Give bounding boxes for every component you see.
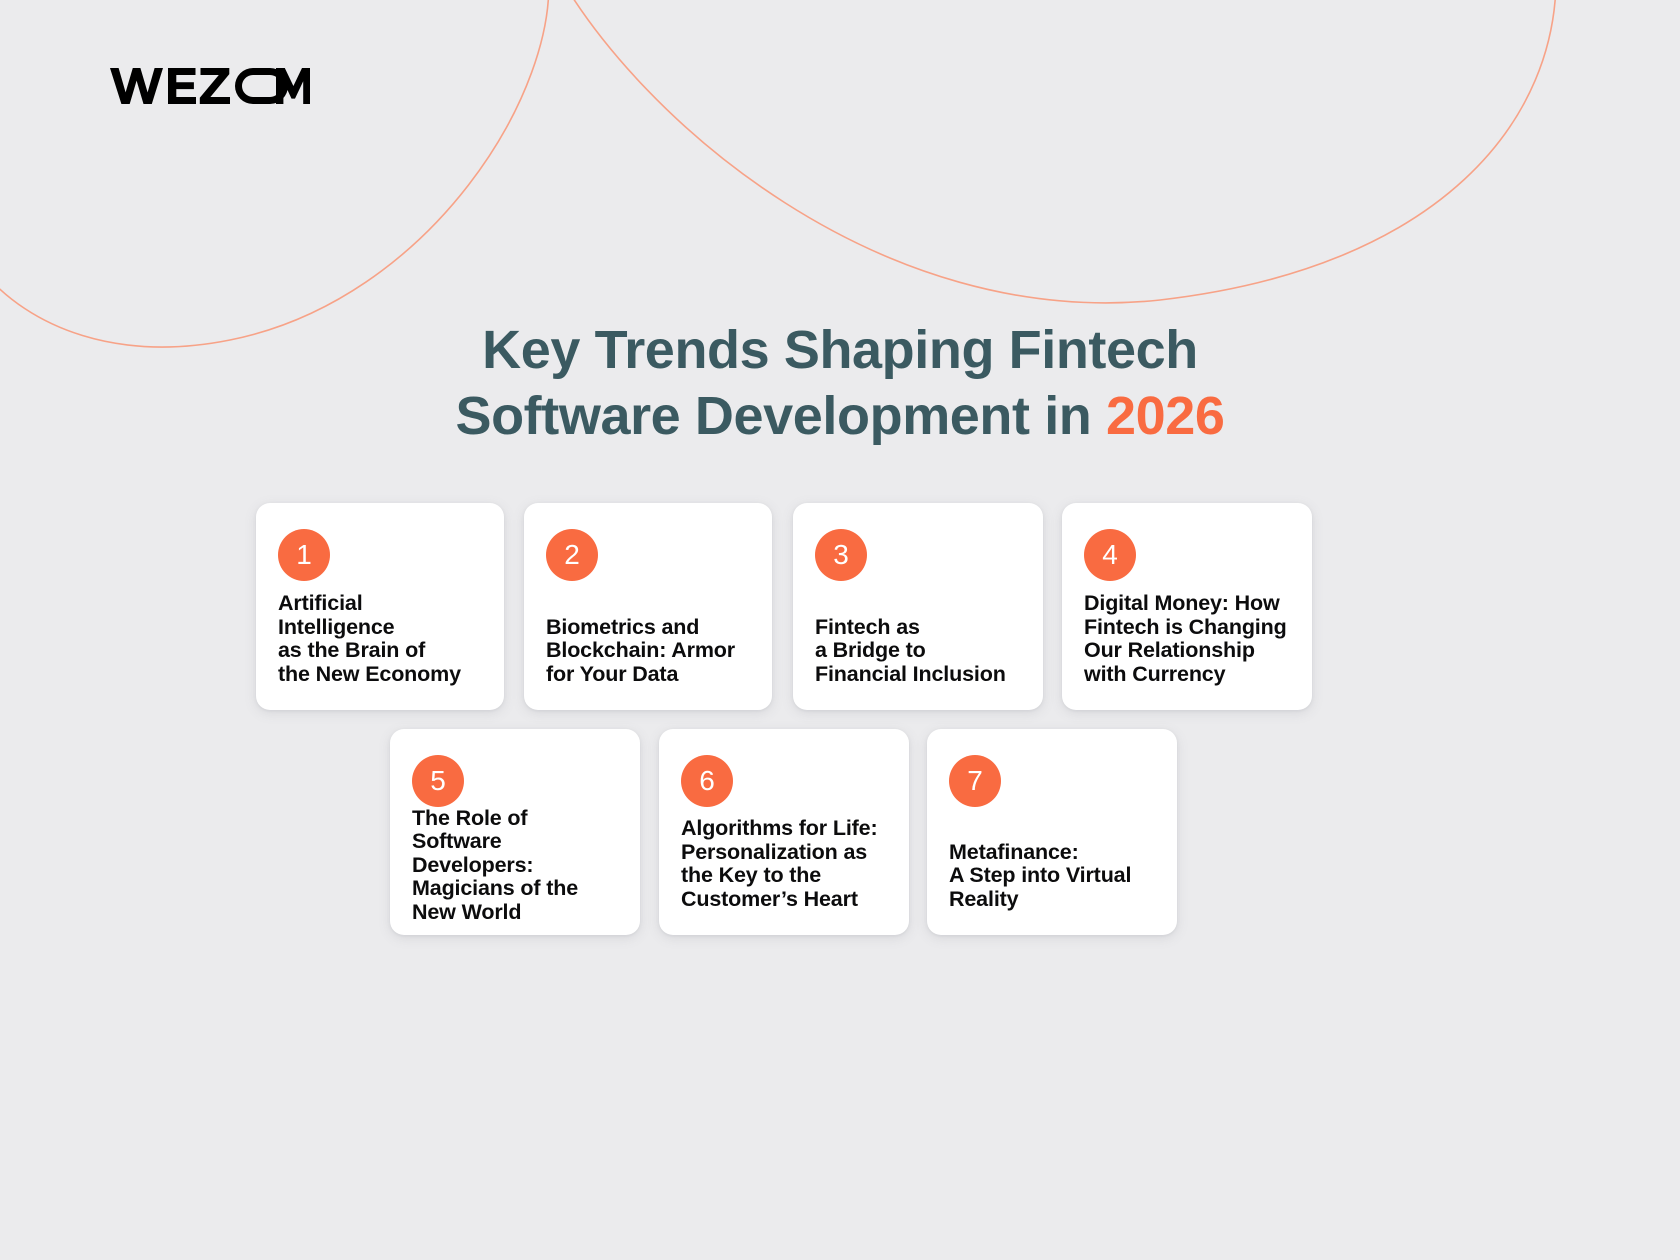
trend-card-title: Artificial Intelligence as the Brain of … [278,592,482,686]
trend-card-title: Biometrics and Blockchain: Armor for You… [546,616,750,686]
trend-card-title: Metafinance: A Step into Virtual Reality [949,841,1155,911]
trend-card-title: Fintech as a Bridge to Financial Inclusi… [815,616,1021,686]
trend-number-badge: 6 [681,755,733,807]
trend-card-grid: 1 Artificial Intelligence as the Brain o… [0,0,1680,1260]
trend-card-6[interactable]: 6 Algorithms for Life: Personalization a… [659,729,909,935]
trend-card-3[interactable]: 3 Fintech as a Bridge to Financial Inclu… [793,503,1043,710]
trend-card-title: The Role of Software Developers: Magicia… [412,807,618,924]
trend-number-badge: 2 [546,529,598,581]
trend-card-4[interactable]: 4 Digital Money: How Fintech is Changing… [1062,503,1312,710]
trend-number-badge: 3 [815,529,867,581]
trend-number-badge: 4 [1084,529,1136,581]
trend-card-1[interactable]: 1 Artificial Intelligence as the Brain o… [256,503,504,710]
trend-card-7[interactable]: 7 Metafinance: A Step into Virtual Reali… [927,729,1177,935]
trend-card-5[interactable]: 5 The Role of Software Developers: Magic… [390,729,640,935]
trend-number-badge: 7 [949,755,1001,807]
trend-number-badge: 5 [412,755,464,807]
trend-card-title: Algorithms for Life: Personalization as … [681,817,887,911]
trend-number-badge: 1 [278,529,330,581]
trend-card-2[interactable]: 2 Biometrics and Blockchain: Armor for Y… [524,503,772,710]
trend-card-title: Digital Money: How Fintech is Changing O… [1084,592,1290,686]
